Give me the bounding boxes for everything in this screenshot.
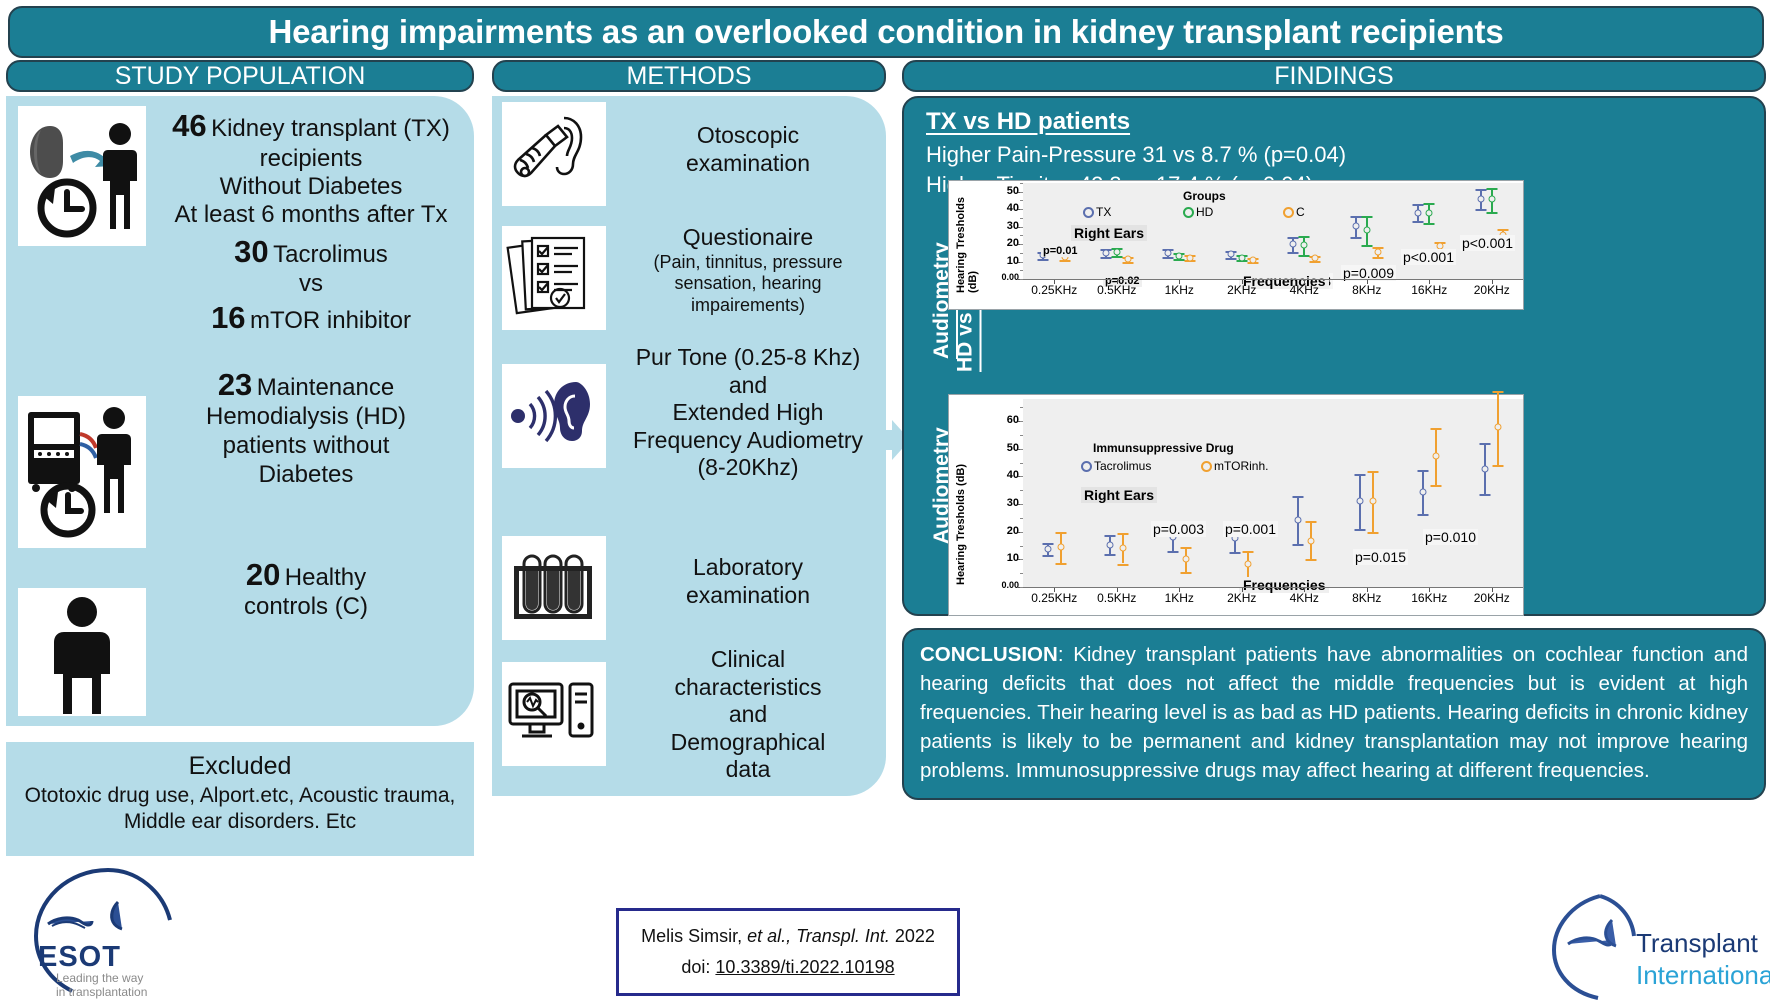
error-bar (1492, 399, 1504, 587)
ytick-minor (1020, 235, 1023, 236)
xtick-label: 16KHz (1395, 591, 1463, 605)
error-bar (1292, 399, 1304, 587)
ytick-minor (1020, 504, 1023, 505)
citation-year: 2022 (890, 926, 935, 946)
page-title-text: Hearing impairments as an overlooked con… (268, 13, 1503, 51)
xtick-label: 4KHz (1270, 591, 1338, 605)
study-group-1-line2: recipients (156, 145, 466, 173)
ear-sound-icon (502, 364, 606, 468)
error-bar (1305, 399, 1317, 587)
error-bar (1479, 399, 1491, 587)
ytick-minor (1020, 209, 1023, 210)
computer-analysis-icon (502, 662, 606, 766)
ytick-minor (1020, 253, 1023, 254)
svg-text:Transplant: Transplant (1636, 928, 1759, 958)
page-title: Hearing impairments as an overlooked con… (8, 6, 1764, 58)
ytick-label: 40 (989, 469, 1019, 481)
transplant-international-logo: Transplant International (1540, 890, 1770, 1002)
conclusion-label: CONCLUSION (920, 643, 1058, 666)
excluded-criteria-box: Excluded Ototoxic drug use, Alport.etc, … (6, 742, 474, 856)
section-header-findings: FINDINGS (902, 60, 1766, 92)
method-1-label: Otoscopicexamination (616, 122, 880, 177)
study-group-1-line3: Without Diabetes (156, 173, 466, 201)
study-group-2-line2: Hemodialysis (HD) (156, 403, 456, 432)
section-header-findings-label: FINDINGS (1274, 62, 1393, 91)
chart-legend-item: TX (1083, 205, 1111, 219)
xtick-label: 1KHz (1145, 591, 1213, 605)
chart2-plot-area: Immunsuppressive DrugTacrolimusmTORinh.R… (1023, 399, 1523, 587)
ytick-label: 50 (989, 185, 1019, 197)
xtick-label: 2KHz (1208, 283, 1276, 297)
xtick-label: 4KHz (1270, 283, 1338, 297)
ytick-label: 60 (989, 414, 1019, 426)
svg-text:International: International (1636, 960, 1770, 990)
error-bar (1055, 399, 1067, 587)
xtick-label: 0.25KHz (1020, 283, 1088, 297)
excluded-title: Excluded (6, 752, 474, 781)
legend-marker (1283, 207, 1294, 218)
study-group-1-count3: 16 (211, 300, 245, 335)
ytick-minor (1020, 435, 1023, 436)
ytick-minor (1020, 183, 1023, 184)
method-2-sublabel: (Pain, tinnitus, pressuresensation, hear… (616, 252, 880, 317)
chart-audiometry-hd-tx-c: Hearing Tresholds (dB) GroupsTXHDCRight … (948, 180, 1524, 310)
ytick-minor (1020, 559, 1023, 560)
svg-text:in transplantation: in transplantation (56, 985, 147, 999)
ytick-minor (1020, 270, 1023, 271)
method-2-label: Questionaire (616, 224, 880, 252)
ytick-minor (1020, 532, 1023, 533)
error-bar (1180, 399, 1192, 587)
method-4-text: Laboratoryexamination (616, 554, 880, 609)
p-value-annotation: p<0.001 (1460, 235, 1515, 251)
study-group-1-vs: vs (156, 270, 466, 298)
p-value-annotation: p=0.001 (1223, 521, 1278, 537)
xtick-label: 8KHz (1333, 283, 1401, 297)
xtick-label: 2KHz (1208, 591, 1276, 605)
study-group-2-text: 23 Maintenance Hemodialysis (HD) patient… (156, 366, 456, 490)
findings-subheading: TX vs HD patients (926, 108, 1130, 136)
chart-legend-item: HD (1183, 205, 1213, 219)
ytick-minor (1020, 573, 1023, 574)
xtick-label: 8KHz (1333, 591, 1401, 605)
esot-logo: ESOT Leading the way in transplantation (8, 862, 208, 1002)
citation-doi-label: doi: (681, 957, 715, 977)
method-5-label: ClinicalcharacteristicsandDemographicald… (616, 646, 880, 784)
error-bar (1242, 399, 1254, 587)
legend-label: C (1296, 205, 1305, 219)
study-group-3-line2: controls (C) (156, 593, 456, 622)
xtick-label: 0.5KHz (1083, 591, 1151, 605)
study-group-1-count: 46 (172, 108, 206, 143)
ytick-minor (1020, 449, 1023, 450)
ytick-label: 30 (989, 220, 1019, 232)
citation-authors: Melis Simsir, (641, 926, 747, 946)
p-value-annotation: p=0.015 (1353, 549, 1408, 565)
findings-panel: TX vs HD patients Higher Pain-Pressure 3… (902, 96, 1766, 616)
p-value-annotation: p=0.01 (1041, 245, 1080, 257)
ytick-minor (1020, 407, 1023, 408)
xtick-label: 0.25KHz (1020, 591, 1088, 605)
ytick-minor (1020, 200, 1023, 201)
study-group-2-line3: patients without (156, 432, 456, 461)
ytick-minor (1020, 546, 1023, 547)
error-bar (1417, 399, 1429, 587)
ytick-minor (1020, 227, 1023, 228)
questionnaire-checklist-icon (502, 226, 606, 330)
study-group-2-count: 23 (218, 367, 252, 402)
method-2-text: Questionaire (Pain, tinnitus, pressurese… (616, 224, 880, 316)
study-group-2-line4: Diabetes (156, 461, 456, 490)
section-header-methods: METHODS (492, 60, 886, 92)
ytick-label: 10 (989, 255, 1019, 267)
legend-marker (1081, 461, 1092, 472)
methods-panel: Otoscopicexamination Questionaire (Pain,… (492, 96, 886, 796)
study-group-3-label: Healthy (285, 564, 366, 591)
xtick-label: 1KHz (1145, 283, 1213, 297)
chart2-ylabel: Hearing Tresholds (dB) (955, 435, 967, 585)
person-icon (18, 588, 146, 716)
method-4-label: Laboratoryexamination (616, 554, 880, 609)
xtick-label: 20KHz (1458, 591, 1526, 605)
ytick-minor (1020, 476, 1023, 477)
chart-audiometry-tacrolimus-mtor: Hearing Tresholds (dB) Immunsuppressive … (948, 394, 1524, 616)
ytick-minor (1020, 244, 1023, 245)
ytick-label: 0.00 (989, 580, 1019, 590)
ytick-label: 30 (989, 497, 1019, 509)
chart-annotation-right-ears: Right Ears (1071, 225, 1147, 241)
study-group-1-line4: At least 6 months after Tx (156, 201, 466, 229)
study-population-panel: 46 Kidney transplant (TX) recipients Wit… (6, 96, 474, 726)
chart-legend-item: mTORinh. (1201, 459, 1268, 473)
method-3-text: Pur Tone (0.25-8 Khz)andExtended HighFre… (616, 344, 880, 482)
chart1-ylabel: Hearing Tresholds (dB) (955, 197, 979, 293)
chart-legend-title: Immunsuppressive Drug (1093, 441, 1234, 455)
citation-box: Melis Simsir, et al., Transpl. Int. 2022… (616, 908, 960, 996)
ytick-minor (1020, 218, 1023, 219)
error-bar (1167, 399, 1179, 587)
legend-marker (1201, 461, 1212, 472)
legend-marker (1183, 207, 1194, 218)
xtick-label: 0.5KHz (1083, 283, 1151, 297)
xtick-label: 16KHz (1395, 283, 1463, 297)
ytick-minor (1020, 192, 1023, 193)
ytick-label: 10 (989, 552, 1019, 564)
excluded-text: Ototoxic drug use, Alport.etc, Acoustic … (6, 781, 474, 836)
error-bar (1229, 399, 1241, 587)
legend-label: HD (1196, 205, 1213, 219)
dialysis-machine-clock-icon (18, 396, 146, 548)
legend-label: Tacrolimus (1094, 459, 1151, 473)
x-axis-line (1023, 587, 1523, 588)
kidney-transplant-clock-icon (18, 106, 146, 246)
legend-marker (1083, 207, 1094, 218)
svg-text:Leading the way: Leading the way (56, 971, 143, 985)
error-bar (1247, 183, 1259, 279)
study-group-2-label: Maintenance (257, 374, 394, 401)
section-header-study-population: STUDY POPULATION (6, 60, 474, 92)
citation-doi-link[interactable]: 10.3389/ti.2022.10198 (715, 957, 894, 977)
error-bar (1309, 183, 1321, 279)
study-group-3-text: 20 Healthy controls (C) (156, 556, 456, 622)
p-value-annotation: p=0.010 (1423, 529, 1478, 545)
study-group-1-label: Kidney transplant (TX) (211, 115, 450, 142)
ytick-minor (1020, 421, 1023, 422)
ytick-minor (1020, 463, 1023, 464)
citation-doi-line: doi: 10.3389/ti.2022.10198 (619, 957, 957, 978)
error-bar (1059, 183, 1071, 279)
error-bar (1430, 399, 1442, 587)
error-bar (1497, 183, 1509, 279)
xtick-label: 20KHz (1458, 283, 1526, 297)
otoscope-hand-icon (502, 102, 606, 206)
legend-label: mTORinh. (1214, 459, 1268, 473)
p-value-annotation: p=0.003 (1151, 521, 1206, 537)
ytick-label: 0.00 (989, 272, 1019, 282)
chart-annotation-right-ears: Right Ears (1081, 487, 1157, 503)
error-bar (1042, 399, 1054, 587)
ytick-minor (1020, 262, 1023, 263)
x-axis-line (1023, 279, 1523, 280)
legend-label: TX (1096, 205, 1111, 219)
ytick-label: 20 (989, 525, 1019, 537)
conclusion-box: CONCLUSION: Kidney transplant patients h… (902, 628, 1766, 800)
svg-text:ESOT: ESOT (38, 941, 121, 973)
method-5-text: ClinicalcharacteristicsandDemographicald… (616, 646, 880, 784)
method-3-label: Pur Tone (0.25-8 Khz)andExtended HighFre… (616, 344, 880, 482)
study-group-3-count: 20 (246, 557, 280, 592)
ytick-label: 50 (989, 442, 1019, 454)
ytick-label: 20 (989, 237, 1019, 249)
test-tubes-icon (502, 536, 606, 640)
study-group-1-label3: mTOR inhibitor (250, 307, 411, 334)
chart-legend-item: C (1283, 205, 1305, 219)
findings-line-1: Higher Pain-Pressure 31 vs 8.7 % (p=0.04… (926, 142, 1346, 168)
chart-legend-item: Tacrolimus (1081, 459, 1151, 473)
section-header-methods-label: METHODS (627, 62, 752, 91)
study-group-1-label2: Tacrolimus (273, 241, 388, 268)
ytick-minor (1020, 490, 1023, 491)
p-value-annotation: p<0.001 (1401, 249, 1456, 265)
section-header-study-population-label: STUDY POPULATION (115, 62, 366, 91)
chart1-plot-area: GroupsTXHDCRight Earsp=0.01p=0.02p=0.008… (1023, 183, 1523, 279)
method-1-text: Otoscopicexamination (616, 122, 880, 177)
ytick-minor (1020, 518, 1023, 519)
ytick-label: 40 (989, 202, 1019, 214)
study-group-1-count2: 30 (234, 234, 268, 269)
citation-reference: Melis Simsir, et al., Transpl. Int. 2022 (619, 926, 957, 947)
citation-journal: et al., Transpl. Int. (747, 926, 890, 946)
chart-legend-title: Groups (1183, 189, 1226, 203)
study-group-1-text: 46 Kidney transplant (TX) recipients Wit… (156, 108, 466, 337)
